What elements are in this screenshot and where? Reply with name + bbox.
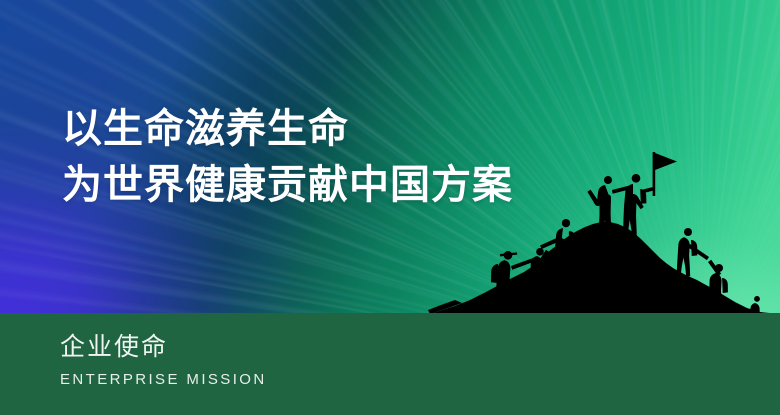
footer-title-cn: 企业使命 bbox=[60, 331, 267, 363]
enterprise-mission-banner: 以生命滋养生命 为世界健康贡献中国方案 企业使命 ENTERPRISE MISS… bbox=[0, 0, 780, 415]
footer-title-en: ENTERPRISE MISSION bbox=[60, 369, 267, 391]
headline-line-1: 以生命滋养生命 bbox=[62, 101, 513, 157]
footer-bar: 企业使命 ENTERPRISE MISSION bbox=[0, 313, 780, 415]
headline: 以生命滋养生命 为世界健康贡献中国方案 bbox=[62, 101, 513, 213]
headline-line-2: 为世界健康贡献中国方案 bbox=[62, 157, 513, 213]
footer-title-group: 企业使命 ENTERPRISE MISSION bbox=[60, 331, 267, 391]
